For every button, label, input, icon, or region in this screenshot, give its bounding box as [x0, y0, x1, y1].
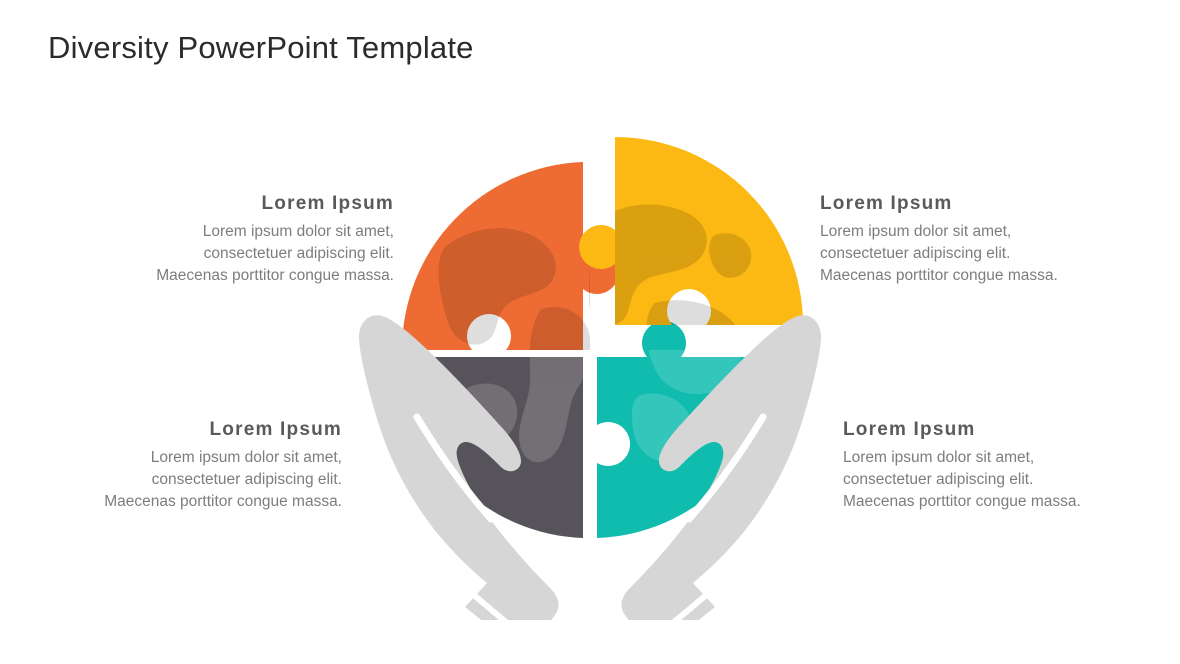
info-body-line: consectetuer adipiscing elit.	[820, 243, 1140, 265]
info-body-line: Lorem ipsum dolor sit amet,	[820, 221, 1140, 243]
info-block-title: Lorem Ipsum	[843, 418, 1163, 442]
info-block-body: Lorem ipsum dolor sit amet, consectetuer…	[22, 447, 342, 513]
info-block-title: Lorem Ipsum	[22, 418, 342, 442]
info-body-line: Maecenas porttitor congue massa.	[74, 265, 394, 287]
info-body-line: Maecenas porttitor congue massa.	[22, 491, 342, 513]
info-body-line: consectetuer adipiscing elit.	[22, 469, 342, 491]
info-block-title: Lorem Ipsum	[74, 192, 394, 216]
slide-canvas: Diversity PowerPoint Template	[0, 0, 1180, 664]
info-body-line: Lorem ipsum dolor sit amet,	[843, 447, 1163, 469]
info-block-title: Lorem Ipsum	[820, 192, 1140, 216]
page-title: Diversity PowerPoint Template	[48, 30, 474, 66]
info-block-body: Lorem ipsum dolor sit amet, consectetuer…	[843, 447, 1163, 513]
info-block-body: Lorem ipsum dolor sit amet, consectetuer…	[820, 221, 1140, 287]
info-block-bottom-right: Lorem Ipsum Lorem ipsum dolor sit amet, …	[843, 418, 1163, 513]
info-block-body: Lorem ipsum dolor sit amet, consectetuer…	[74, 221, 394, 287]
info-block-top-right: Lorem Ipsum Lorem ipsum dolor sit amet, …	[820, 192, 1140, 287]
info-body-line: Maecenas porttitor congue massa.	[820, 265, 1140, 287]
info-body-line: Lorem ipsum dolor sit amet,	[22, 447, 342, 469]
info-body-line: consectetuer adipiscing elit.	[74, 243, 394, 265]
globe-puzzle-graphic	[355, 95, 825, 620]
info-block-top-left: Lorem Ipsum Lorem ipsum dolor sit amet, …	[74, 192, 394, 287]
info-block-bottom-left: Lorem Ipsum Lorem ipsum dolor sit amet, …	[22, 418, 342, 513]
info-body-line: Lorem ipsum dolor sit amet,	[74, 221, 394, 243]
info-body-line: consectetuer adipiscing elit.	[843, 469, 1163, 491]
info-body-line: Maecenas porttitor congue massa.	[843, 491, 1163, 513]
